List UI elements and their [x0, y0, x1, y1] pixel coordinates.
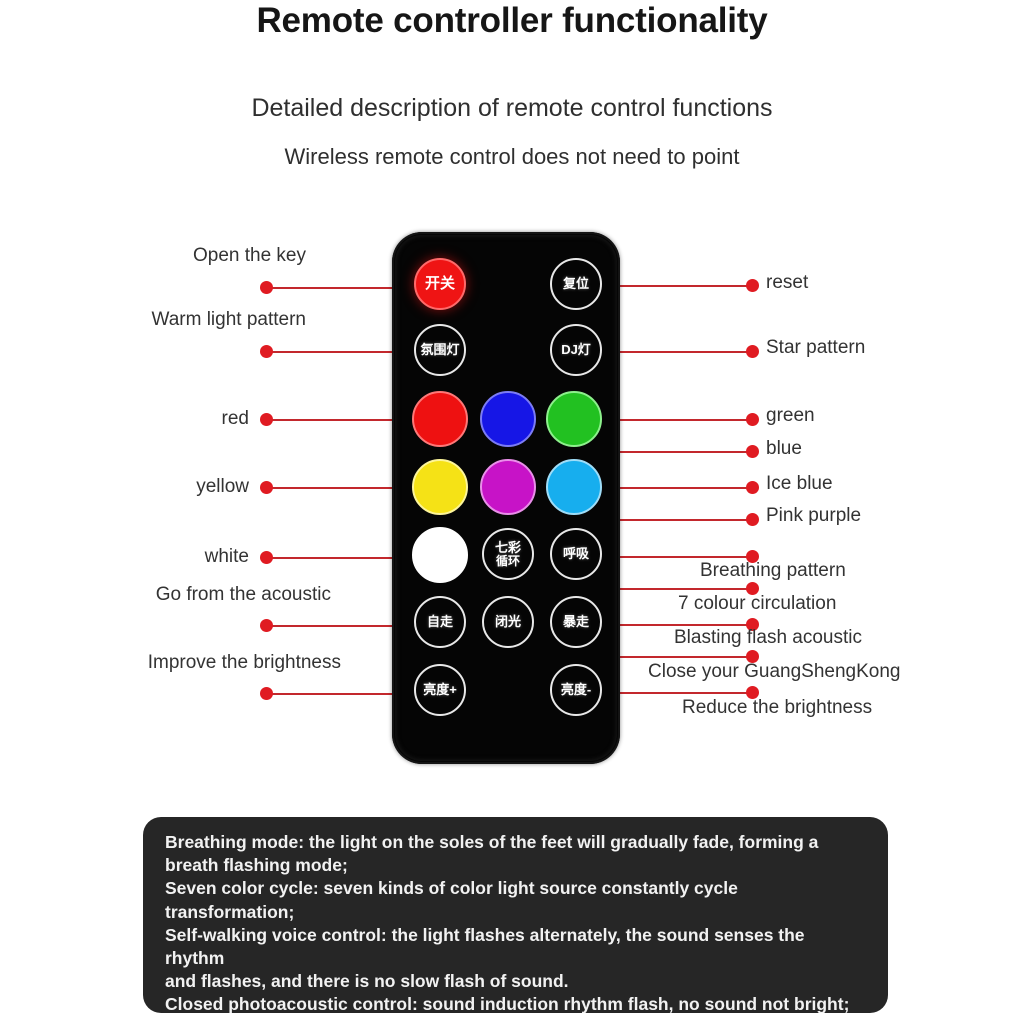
callout-label-green-text: green: [766, 405, 815, 426]
remote-button-color-pink-purple[interactable]: [480, 459, 536, 515]
callout-dot-blue: [746, 445, 759, 458]
callout-label-seven-colour-circulation-text: 7 colour circulation: [678, 593, 836, 614]
remote-button-ambient-light[interactable]: 氛围灯: [414, 324, 466, 376]
remote-button-ambient-light-label: 氛围灯: [420, 343, 459, 357]
remote-button-brightness-up-label: 亮度+: [423, 683, 457, 697]
leader-line-open-the-key: [272, 287, 402, 289]
leader-line-warm-light-pattern: [272, 351, 402, 353]
callout-label-reset-text: reset: [766, 272, 808, 293]
callout-label-seven-colour-circulation: 7 colour circulation: [678, 593, 836, 615]
callout-dot-ice-blue: [746, 481, 759, 494]
callout-label-blasting-flash-acoustic: Blasting flash acoustic: [674, 627, 862, 649]
callout-label-yellow: yellow: [0, 476, 249, 498]
callout-label-star-pattern-text: Star pattern: [766, 337, 865, 358]
description-line-5: and flashes, and there is no slow flash …: [165, 970, 866, 993]
description-line-1: Breathing mode: the light on the soles o…: [165, 831, 866, 854]
callout-label-white: white: [0, 546, 249, 568]
remote-button-power-label: 开关: [425, 276, 455, 292]
description-panel: Breathing mode: the light on the soles o…: [143, 817, 888, 1013]
callout-label-pink-purple: Pink purple: [766, 505, 861, 527]
remote-button-seven-color-cycle-label-1: 七彩: [495, 541, 521, 555]
remote-button-color-yellow[interactable]: [412, 459, 468, 515]
remote-button-seven-color-cycle-label-2: 循环: [496, 555, 520, 568]
callout-label-warm-light-pattern: Warm light pattern: [0, 309, 306, 331]
remote-button-blast-walk[interactable]: 暴走: [550, 596, 602, 648]
leader-line-star-pattern: [600, 351, 752, 353]
callout-label-open-the-key-text: Open the key: [193, 245, 306, 266]
callout-dot-warm-light-pattern: [260, 345, 273, 358]
callout-label-improve-the-brightness: Improve the brightness: [0, 652, 341, 674]
remote-button-dj-light-label: DJ灯: [561, 343, 591, 357]
callout-dot-reset: [746, 279, 759, 292]
callout-label-warm-light-pattern-text: Warm light pattern: [151, 309, 306, 330]
callout-label-reset: reset: [766, 272, 808, 294]
callout-label-blue: blue: [766, 438, 802, 460]
description-line-3: Seven color cycle: seven kinds of color …: [165, 877, 866, 923]
callout-label-blue-text: blue: [766, 438, 802, 459]
callout-dot-open-the-key: [260, 281, 273, 294]
callout-label-green: green: [766, 405, 815, 427]
description-line-4: Self-walking voice control: the light fl…: [165, 924, 866, 970]
callout-label-close-your-guangshengkong: Close your GuangShengKong: [648, 661, 900, 683]
callout-label-go-from-the-acoustic: Go from the acoustic: [0, 584, 331, 606]
remote-button-color-ice-blue[interactable]: [546, 459, 602, 515]
remote-button-color-green[interactable]: [546, 391, 602, 447]
callout-label-pink-purple-text: Pink purple: [766, 505, 861, 526]
callout-dot-yellow: [260, 481, 273, 494]
remote-button-brightness-up[interactable]: 亮度+: [414, 664, 466, 716]
page-subtitle-2: Wireless remote control does not need to…: [0, 142, 1024, 172]
callout-dot-improve-the-brightness: [260, 687, 273, 700]
callout-label-ice-blue-text: Ice blue: [766, 473, 833, 494]
callout-dot-star-pattern: [746, 345, 759, 358]
remote-button-close-light-label: 闭光: [495, 615, 521, 629]
leader-line-go-from-the-acoustic: [272, 625, 402, 627]
callout-label-go-from-the-acoustic-text: Go from the acoustic: [156, 584, 331, 605]
callout-label-breathing-pattern: Breathing pattern: [700, 560, 846, 582]
remote-button-seven-color-cycle[interactable]: 七彩 循环: [482, 528, 534, 580]
callout-label-star-pattern: Star pattern: [766, 337, 865, 359]
remote-button-brightness-down-label: 亮度-: [561, 683, 591, 697]
remote-button-power[interactable]: 开关: [414, 258, 466, 310]
callout-dot-white: [260, 551, 273, 564]
remote-button-self-walk-label: 自走: [427, 615, 453, 629]
leader-line-reset: [600, 285, 752, 287]
remote-button-color-red[interactable]: [412, 391, 468, 447]
callout-label-improve-the-brightness-text: Improve the brightness: [148, 652, 341, 673]
callout-dot-green: [746, 413, 759, 426]
leader-line-improve-the-brightness: [272, 693, 402, 695]
remote-button-reset-label: 复位: [563, 277, 589, 291]
callout-label-open-the-key: Open the key: [0, 245, 306, 267]
callout-label-close-your-guangshengkong-text: Close your GuangShengKong: [648, 661, 900, 682]
remote-button-color-white[interactable]: [412, 527, 468, 583]
callout-label-red-text: red: [222, 408, 249, 429]
remote-button-blast-walk-label: 暴走: [563, 615, 589, 629]
callout-label-blasting-flash-acoustic-text: Blasting flash acoustic: [674, 627, 862, 648]
callout-label-reduce-the-brightness: Reduce the brightness: [682, 697, 872, 719]
callout-label-breathing-pattern-text: Breathing pattern: [700, 560, 846, 581]
remote-button-breathing[interactable]: 呼吸: [550, 528, 602, 580]
callout-label-yellow-text: yellow: [196, 476, 249, 497]
description-line-6: Closed photoacoustic control: sound indu…: [165, 993, 866, 1013]
remote-button-dj-light[interactable]: DJ灯: [550, 324, 602, 376]
description-line-2: breath flashing mode;: [165, 854, 866, 877]
callout-dot-go-from-the-acoustic: [260, 619, 273, 632]
callout-dot-red: [260, 413, 273, 426]
remote-button-color-blue[interactable]: [480, 391, 536, 447]
page-subtitle-1: Detailed description of remote control f…: [0, 92, 1024, 124]
remote-button-breathing-label: 呼吸: [563, 547, 589, 561]
callout-dot-pink-purple: [746, 513, 759, 526]
remote-button-brightness-down[interactable]: 亮度-: [550, 664, 602, 716]
callout-label-ice-blue: Ice blue: [766, 473, 833, 495]
remote-button-reset[interactable]: 复位: [550, 258, 602, 310]
callout-label-red: red: [0, 408, 249, 430]
page-title: Remote controller functionality: [0, 0, 1024, 42]
callout-label-white-text: white: [205, 546, 249, 567]
callout-label-reduce-the-brightness-text: Reduce the brightness: [682, 697, 872, 718]
remote-button-self-walk[interactable]: 自走: [414, 596, 466, 648]
remote-button-close-light[interactable]: 闭光: [482, 596, 534, 648]
